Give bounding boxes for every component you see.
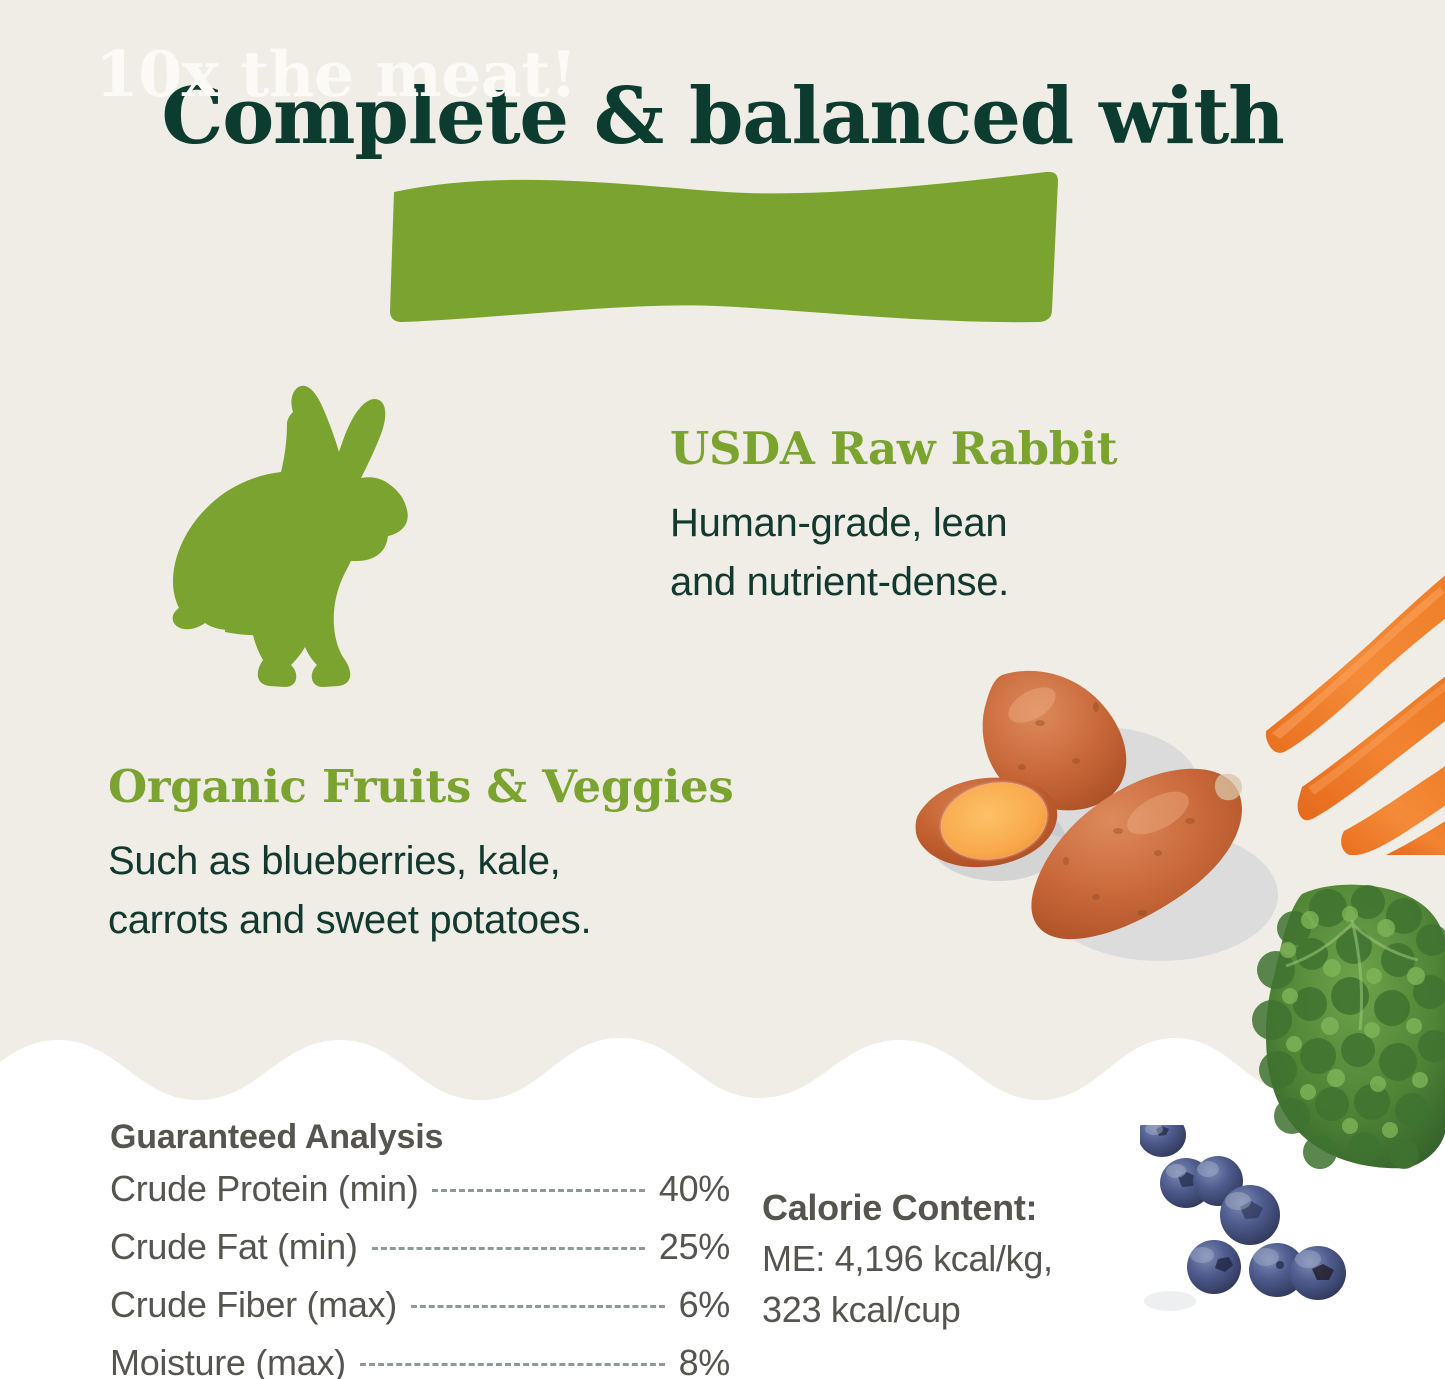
dot-leader bbox=[360, 1363, 665, 1366]
row-label: Moisture (max) bbox=[110, 1342, 346, 1379]
calorie-content-title: Calorie Content: bbox=[762, 1182, 1112, 1233]
feature-organic-fruits-veggies: Organic Fruits & Veggies Such as blueber… bbox=[108, 762, 868, 950]
calorie-content: Calorie Content: ME: 4,196 kcal/kg, 323 … bbox=[762, 1182, 1112, 1335]
feature-title: USDA Raw Rabbit bbox=[670, 424, 1230, 474]
dot-leader bbox=[411, 1305, 665, 1308]
dot-leader bbox=[432, 1189, 644, 1192]
feature-body: Human-grade, lean and nutrient-dense. bbox=[670, 494, 1230, 612]
banner-headline: 10x the meat! bbox=[0, 0, 672, 154]
calorie-content-line: ME: 4,196 kcal/kg, bbox=[762, 1233, 1112, 1284]
row-value: 40% bbox=[659, 1168, 730, 1210]
calorie-content-line: 323 kcal/cup bbox=[762, 1284, 1112, 1335]
product-infographic: Complete & balanced with 10x the meat! U… bbox=[0, 0, 1445, 1379]
row-value: 6% bbox=[679, 1284, 730, 1326]
blueberries-photo bbox=[1140, 1125, 1375, 1330]
banner-shape bbox=[386, 170, 1058, 324]
feature-body: Such as blueberries, kale, carrots and s… bbox=[108, 832, 868, 950]
row-label: Crude Protein (min) bbox=[110, 1168, 418, 1210]
feature-body-line: carrots and sweet potatoes. bbox=[108, 891, 868, 950]
table-row: Crude Protein (min) 40% bbox=[110, 1168, 730, 1226]
table-row: Crude Fiber (max) 6% bbox=[110, 1284, 730, 1342]
feature-body-line: Human-grade, lean bbox=[670, 494, 1230, 553]
row-label: Crude Fiber (max) bbox=[110, 1284, 397, 1326]
sweet-potatoes-photo bbox=[890, 645, 1290, 985]
dot-leader bbox=[372, 1247, 645, 1250]
table-row: Moisture (max) 8% bbox=[110, 1342, 730, 1379]
guaranteed-analysis: Guaranteed Analysis Crude Protein (min) … bbox=[110, 1118, 730, 1379]
rabbit-silhouette-icon bbox=[165, 360, 515, 700]
table-row: Crude Fat (min) 25% bbox=[110, 1226, 730, 1284]
feature-body-line: Such as blueberries, kale, bbox=[108, 832, 868, 891]
row-value: 8% bbox=[679, 1342, 730, 1379]
row-label: Crude Fat (min) bbox=[110, 1226, 358, 1268]
guaranteed-analysis-title: Guaranteed Analysis bbox=[110, 1118, 730, 1157]
row-value: 25% bbox=[659, 1226, 730, 1268]
feature-title: Organic Fruits & Veggies bbox=[108, 762, 868, 812]
feature-body-line: and nutrient-dense. bbox=[670, 553, 1230, 612]
feature-usda-raw-rabbit: USDA Raw Rabbit Human-grade, lean and nu… bbox=[670, 424, 1230, 612]
